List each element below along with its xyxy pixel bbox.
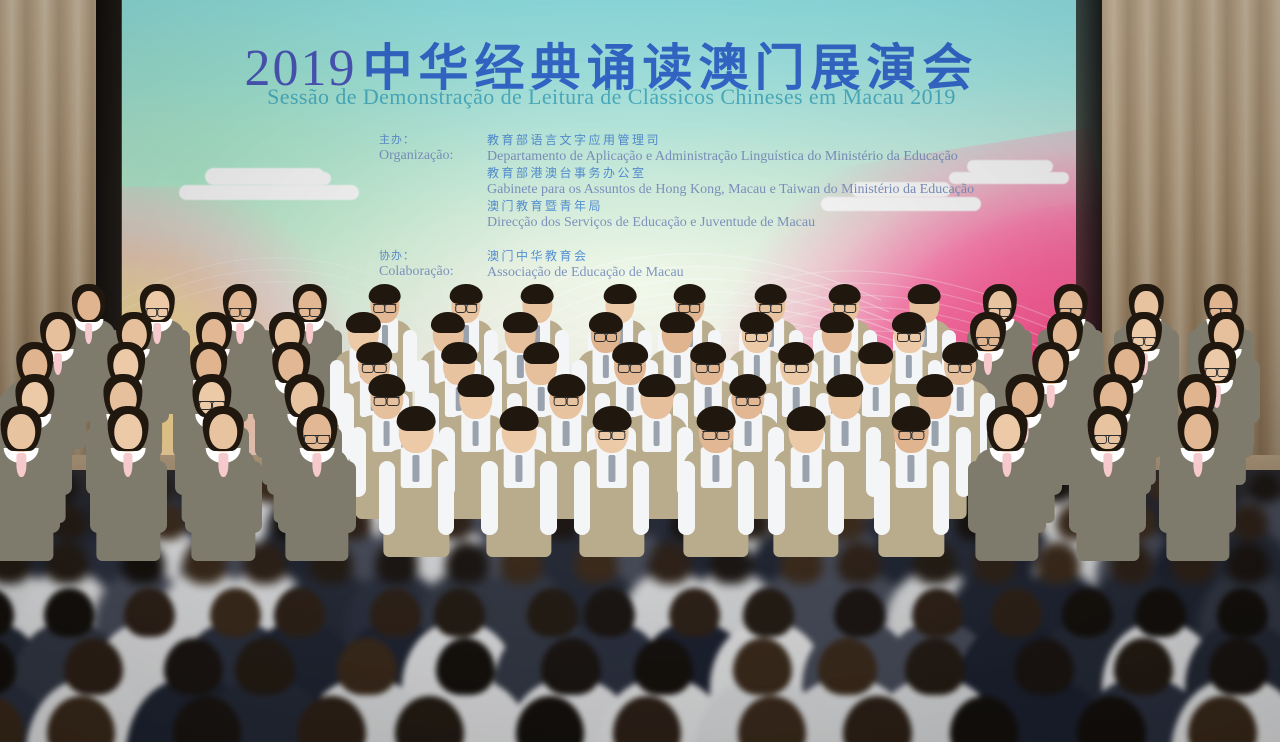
- audience-head: [541, 638, 600, 695]
- face: [210, 414, 238, 449]
- shirt-sleeve-right: [438, 461, 454, 534]
- necktie: [803, 455, 810, 482]
- shirt-sleeve-right: [828, 461, 844, 534]
- choir-member-boy: [876, 404, 947, 557]
- hair: [397, 406, 436, 430]
- hair: [660, 312, 694, 334]
- audience-head: [743, 588, 794, 637]
- choir-member-girl: [0, 404, 57, 557]
- dress-sleeve-right: [1237, 393, 1253, 459]
- audience-head: [912, 588, 963, 637]
- shirt-sleeve-left: [481, 461, 497, 534]
- hair: [638, 374, 675, 398]
- hair: [441, 342, 477, 365]
- audience-head: [905, 638, 964, 695]
- hair: [450, 284, 483, 305]
- glasses-icon: [834, 304, 856, 305]
- hair: [828, 284, 861, 305]
- choir-member-girl: [188, 404, 259, 557]
- audience-head: [1135, 588, 1186, 637]
- dress-sleeve-right: [150, 461, 167, 532]
- hair: [356, 342, 392, 365]
- necktie: [563, 421, 570, 446]
- hair: [892, 312, 926, 334]
- audience-head: [274, 588, 325, 637]
- glasses-icon: [1205, 368, 1229, 369]
- glasses-icon: [1094, 435, 1121, 436]
- dress-sleeve-left: [968, 461, 985, 532]
- shirt-sleeve-left: [678, 461, 694, 534]
- dress-sleeve-left: [1159, 461, 1176, 532]
- choir-member-boy: [680, 404, 751, 557]
- hair: [592, 406, 631, 430]
- glasses-icon: [1209, 308, 1231, 309]
- hair: [754, 284, 787, 305]
- dress-sleeve-left: [278, 461, 295, 532]
- shirt-sleeve-right: [633, 461, 649, 534]
- glasses-icon: [146, 308, 168, 309]
- audience-head: [991, 588, 1042, 637]
- glasses-icon: [735, 397, 760, 398]
- face: [115, 414, 143, 449]
- audience-head: [164, 638, 223, 695]
- dress-sleeve-left: [90, 461, 107, 532]
- audience-head: [1217, 588, 1268, 637]
- hair: [503, 312, 537, 334]
- shirt-sleeve-right: [738, 461, 754, 534]
- hair: [523, 342, 559, 365]
- audience-head: [834, 588, 885, 637]
- audience-head: [337, 638, 396, 695]
- necktie: [842, 421, 849, 446]
- choir-member-boy: [483, 404, 554, 557]
- audience-head: [235, 638, 294, 695]
- glasses-icon: [898, 431, 925, 432]
- necktie: [472, 421, 479, 446]
- dress-sleeve-left: [185, 461, 202, 532]
- hair: [673, 284, 706, 305]
- choir-member-boy: [381, 404, 452, 557]
- hair: [820, 312, 854, 334]
- hair: [500, 406, 539, 430]
- hair: [548, 374, 585, 398]
- hair: [346, 312, 380, 334]
- glasses-icon: [594, 333, 617, 334]
- audience-head: [44, 588, 95, 637]
- hair: [690, 342, 726, 365]
- glasses-icon: [304, 435, 331, 436]
- audience-head: [1062, 588, 1113, 637]
- hair: [778, 342, 814, 365]
- choir-member-boy: [770, 404, 841, 557]
- glasses-icon: [784, 364, 808, 365]
- audience-head: [124, 588, 175, 637]
- hair: [521, 284, 554, 305]
- glasses-icon: [1060, 308, 1082, 309]
- glasses-icon: [374, 304, 396, 305]
- audience-head: [210, 588, 261, 637]
- hair: [457, 374, 494, 398]
- shirt-sleeve-left: [874, 461, 890, 534]
- glasses-icon: [988, 308, 1010, 309]
- shirt-sleeve-right: [540, 461, 556, 534]
- dress-sleeve-right: [1129, 461, 1146, 532]
- hair: [697, 406, 736, 430]
- face: [1094, 414, 1122, 449]
- dress-sleeve-left: [1069, 461, 1086, 532]
- dress-sleeve-right: [1045, 427, 1062, 496]
- necktie: [908, 455, 915, 482]
- face: [993, 414, 1021, 449]
- necktie: [608, 455, 615, 482]
- audience-head: [733, 638, 792, 695]
- hair: [431, 312, 465, 334]
- glasses-icon: [678, 304, 700, 305]
- hair: [589, 312, 623, 334]
- audience-head: [527, 588, 578, 637]
- shirt-sleeve-left: [574, 461, 590, 534]
- glasses-icon: [554, 397, 579, 398]
- choir-member-girl: [93, 404, 164, 557]
- event-photo: 2019 中华经典诵读澳门展演会 Sessão de Demonstração …: [0, 0, 1280, 742]
- choir-member-girl: [1072, 404, 1143, 557]
- hair: [729, 374, 766, 398]
- necktie: [653, 421, 660, 446]
- glasses-icon: [696, 364, 720, 365]
- glasses-icon: [374, 397, 399, 398]
- shirt-sleeve-left: [768, 461, 784, 534]
- necktie: [515, 455, 522, 482]
- audience-head: [584, 588, 635, 637]
- glasses-icon: [745, 333, 768, 334]
- hair: [368, 284, 401, 305]
- hair: [892, 406, 931, 430]
- audience-head: [818, 638, 877, 695]
- hair: [858, 342, 894, 365]
- choir-member-girl: [971, 404, 1042, 557]
- glasses-icon: [760, 304, 782, 305]
- glasses-icon: [703, 431, 730, 432]
- student-choir: [0, 0, 1280, 620]
- hair: [612, 342, 648, 365]
- dress-sleeve-right: [1219, 461, 1236, 532]
- shirt-sleeve-right: [933, 461, 949, 534]
- audience-head: [434, 588, 485, 637]
- dress-sleeve-right: [1028, 461, 1045, 532]
- hair: [827, 374, 864, 398]
- choir-member-girl: [281, 404, 352, 557]
- glasses-icon: [199, 401, 224, 402]
- audience-head: [1014, 638, 1073, 695]
- necktie: [413, 455, 420, 482]
- glasses-icon: [299, 308, 321, 309]
- glasses-icon: [598, 431, 625, 432]
- glasses-icon: [362, 364, 386, 365]
- dress-sleeve-right: [43, 461, 60, 532]
- hair: [604, 284, 637, 305]
- hair: [942, 342, 978, 365]
- hair: [916, 374, 953, 398]
- hair: [740, 312, 774, 334]
- glasses-icon: [229, 308, 251, 309]
- hair: [908, 284, 941, 305]
- necktie: [713, 455, 720, 482]
- glasses-icon: [1132, 337, 1155, 338]
- dress-sleeve-right: [245, 461, 262, 532]
- hair: [787, 406, 826, 430]
- glasses-icon: [976, 337, 999, 338]
- face: [303, 414, 331, 449]
- audience-head: [370, 588, 421, 637]
- glasses-icon: [948, 364, 972, 365]
- dress-sleeve-right: [338, 461, 355, 532]
- glasses-icon: [455, 304, 477, 305]
- face: [1184, 414, 1212, 449]
- audience-head: [1209, 638, 1268, 695]
- shirt-sleeve-left: [379, 461, 395, 534]
- hair: [368, 374, 405, 398]
- audience-head: [669, 588, 720, 637]
- choir-member-girl: [1162, 404, 1233, 557]
- choir-member-boy: [576, 404, 647, 557]
- face: [8, 414, 36, 449]
- glasses-icon: [618, 364, 642, 365]
- glasses-icon: [897, 333, 920, 334]
